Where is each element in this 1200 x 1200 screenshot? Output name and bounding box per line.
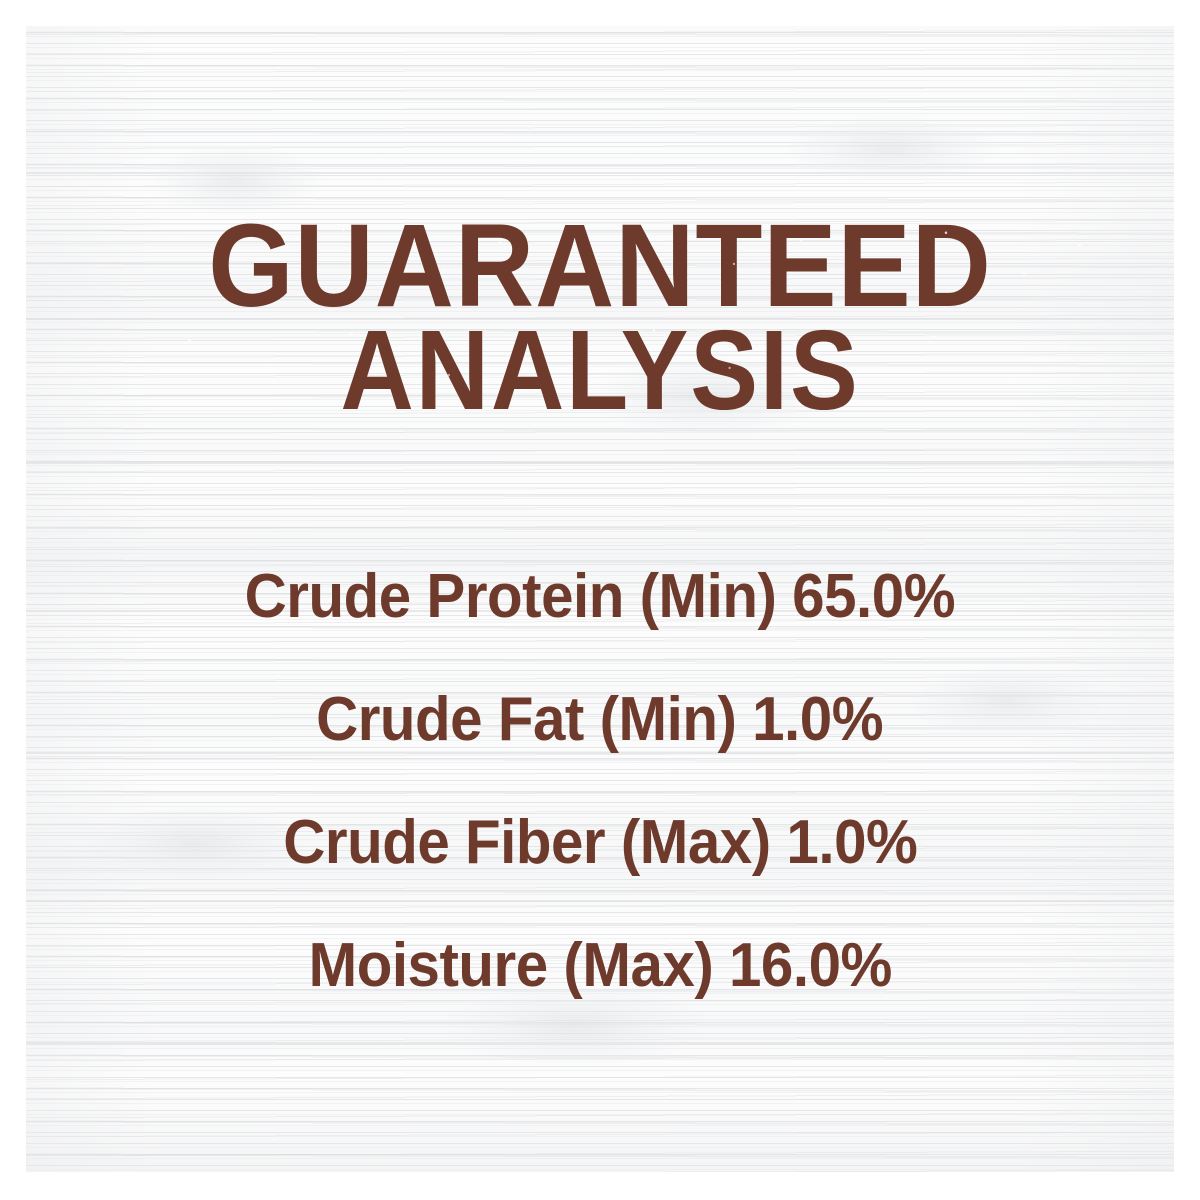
guaranteed-analysis-panel: GUARANTEED ANALYSIS Crude Protein (Min) … bbox=[0, 0, 1200, 1200]
title-line-analysis: ANALYSIS bbox=[60, 318, 1140, 422]
panel-content: GUARANTEED ANALYSIS Crude Protein (Min) … bbox=[0, 0, 1200, 1200]
list-item: Crude Protein (Min) 65.0% bbox=[0, 535, 1200, 658]
guaranteed-analysis-list: Crude Protein (Min) 65.0% Crude Fat (Min… bbox=[0, 535, 1200, 1027]
analysis-row-crude-fiber: Crude Fiber (Max) 1.0% bbox=[283, 812, 917, 874]
title-line-analysis-text: ANALYSIS bbox=[340, 307, 859, 433]
page-title: GUARANTEED ANALYSIS bbox=[0, 214, 1200, 422]
analysis-row-crude-fat: Crude Fat (Min) 1.0% bbox=[317, 689, 884, 751]
list-item: Crude Fat (Min) 1.0% bbox=[0, 658, 1200, 781]
list-item: Moisture (Max) 16.0% bbox=[0, 904, 1200, 1027]
analysis-row-moisture: Moisture (Max) 16.0% bbox=[308, 935, 891, 997]
analysis-row-crude-protein: Crude Protein (Min) 65.0% bbox=[245, 566, 955, 628]
list-item: Crude Fiber (Max) 1.0% bbox=[0, 781, 1200, 904]
title-line-guaranteed: GUARANTEED bbox=[42, 214, 1158, 318]
